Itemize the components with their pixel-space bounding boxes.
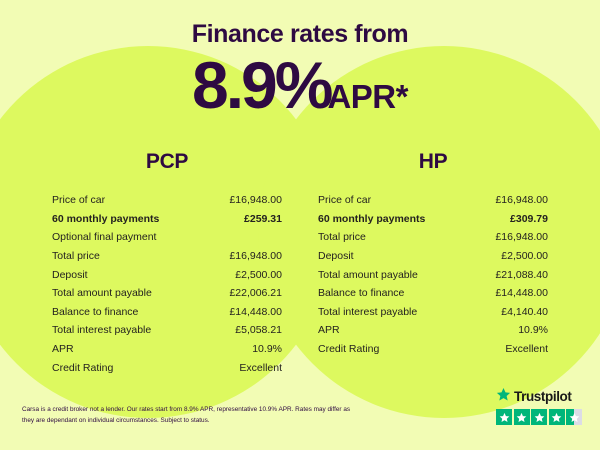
plan-table-pcp: Price of car£16,948.0060 monthly payment… (52, 191, 282, 377)
row-label: APR (318, 321, 472, 340)
table-row: Optional final payment (52, 228, 282, 247)
row-label: Price of car (318, 191, 472, 210)
row-value: Excellent (206, 358, 282, 377)
row-value: £14,448.00 (206, 303, 282, 322)
table-row: 60 monthly payments£309.79 (318, 210, 548, 229)
trustpilot-star-icon (566, 409, 582, 425)
trustpilot-star-rating (496, 409, 584, 425)
plan-title-hp: HP (318, 150, 548, 174)
plan-title-pcp: PCP (52, 150, 282, 174)
trustpilot-rating[interactable]: Trustpilot (496, 389, 584, 425)
row-label: APR (52, 340, 206, 359)
row-value: Excellent (472, 340, 548, 359)
table-row: Price of car£16,948.00 (52, 191, 282, 210)
page-title: Finance rates from (0, 20, 600, 49)
row-value: £14,448.00 (472, 284, 548, 303)
row-value: £259.31 (206, 210, 282, 229)
row-label: 60 monthly payments (318, 210, 472, 229)
row-value (206, 228, 282, 247)
disclaimer-text: Carsa is a credit broker not a lender. O… (22, 404, 362, 426)
row-value: 10.9% (206, 340, 282, 359)
row-label: Deposit (318, 247, 472, 266)
row-label: 60 monthly payments (52, 210, 206, 229)
row-value: £2,500.00 (206, 265, 282, 284)
row-label: Price of car (52, 191, 206, 210)
row-label: Balance to finance (52, 303, 206, 322)
row-label: Optional final payment (52, 228, 206, 247)
row-value: £16,948.00 (472, 191, 548, 210)
row-value: £22,006.21 (206, 284, 282, 303)
row-value: £5,058.21 (206, 321, 282, 340)
row-label: Credit Rating (318, 340, 472, 359)
row-label: Deposit (52, 265, 206, 284)
row-value: £16,948.00 (206, 191, 282, 210)
row-label: Total interest payable (318, 303, 472, 322)
table-row: Deposit£2,500.00 (52, 265, 282, 284)
table-row: Total price£16,948.00 (52, 247, 282, 266)
row-value: £16,948.00 (472, 228, 548, 247)
trustpilot-star-icon (514, 409, 530, 425)
rate-value: 8.9% (192, 48, 330, 122)
table-row: 60 monthly payments£259.31 (52, 210, 282, 229)
banner-content: Finance rates from 8.9%APR* PCP Price of… (0, 0, 600, 450)
row-label: Total amount payable (52, 284, 206, 303)
plan-table-hp: Price of car£16,948.0060 monthly payment… (318, 191, 548, 358)
trustpilot-star-icon (531, 409, 547, 425)
headline-rate: 8.9%APR* (0, 52, 600, 118)
table-row: APR10.9% (318, 321, 548, 340)
table-row: Total amount payable£22,006.21 (52, 284, 282, 303)
row-label: Total interest payable (52, 321, 206, 340)
table-row: Credit RatingExcellent (52, 358, 282, 377)
trustpilot-star-icon (496, 409, 512, 425)
trustpilot-star-icon (496, 387, 511, 407)
table-row: Credit RatingExcellent (318, 340, 548, 359)
trustpilot-star-icon (549, 409, 565, 425)
row-label: Credit Rating (52, 358, 206, 377)
table-row: Balance to finance£14,448.00 (52, 303, 282, 322)
finance-plan-hp: HP Price of car£16,948.0060 monthly paym… (318, 150, 548, 358)
row-value: £2,500.00 (472, 247, 548, 266)
table-row: APR10.9% (52, 340, 282, 359)
row-value: £309.79 (472, 210, 548, 229)
trustpilot-logo: Trustpilot (496, 389, 584, 405)
table-row: Balance to finance£14,448.00 (318, 284, 548, 303)
row-value: £21,088.40 (472, 265, 548, 284)
row-label: Balance to finance (318, 284, 472, 303)
finance-plan-pcp: PCP Price of car£16,948.0060 monthly pay… (52, 150, 282, 377)
table-row: Total interest payable£5,058.21 (52, 321, 282, 340)
promo-banner: Finance rates from 8.9%APR* PCP Price of… (0, 0, 600, 450)
table-row: Deposit£2,500.00 (318, 247, 548, 266)
row-label: Total amount payable (318, 265, 472, 284)
table-row: Total interest payable£4,140.40 (318, 303, 548, 322)
row-label: Total price (52, 247, 206, 266)
table-row: Total amount payable£21,088.40 (318, 265, 548, 284)
table-row: Total price£16,948.00 (318, 228, 548, 247)
table-row: Price of car£16,948.00 (318, 191, 548, 210)
rate-suffix: APR* (327, 78, 408, 115)
row-value: 10.9% (472, 321, 548, 340)
row-value: £16,948.00 (206, 247, 282, 266)
row-value: £4,140.40 (472, 303, 548, 322)
row-label: Total price (318, 228, 472, 247)
trustpilot-wordmark: Trustpilot (514, 390, 572, 404)
